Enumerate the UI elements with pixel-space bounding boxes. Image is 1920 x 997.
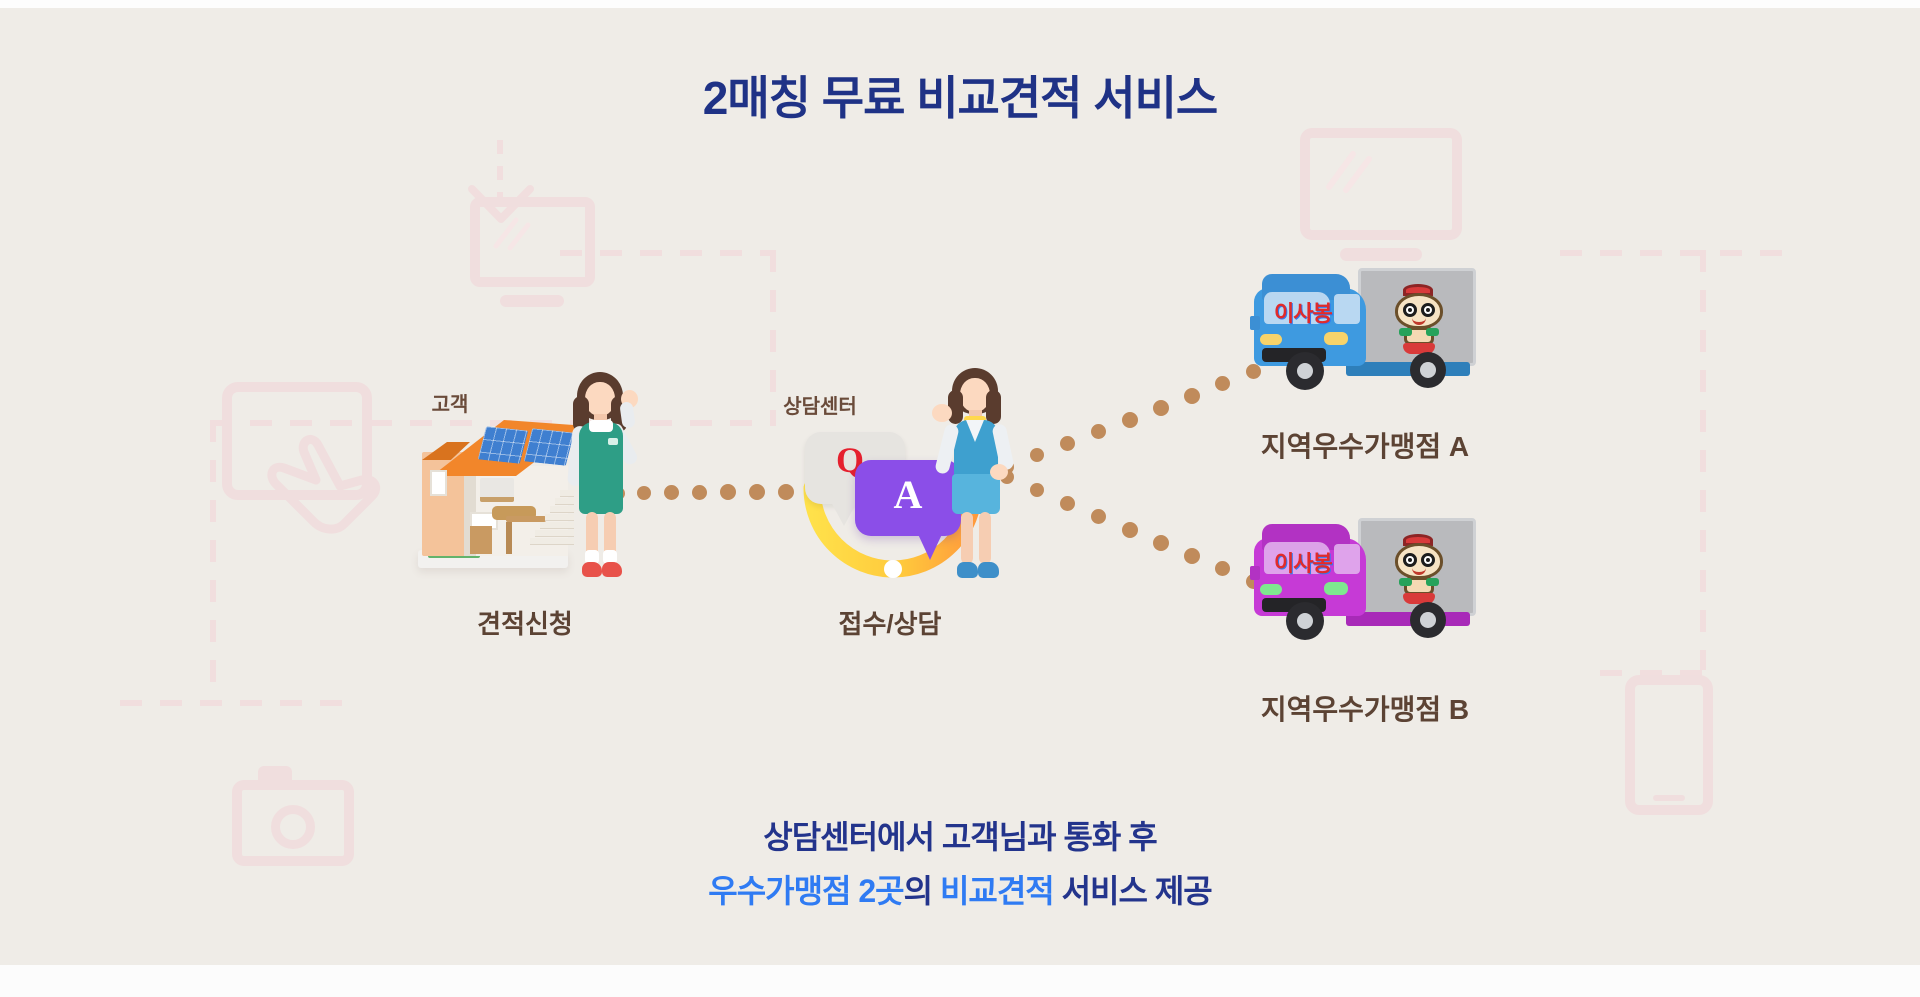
- footer-highlight-partners: 우수가맹점 2곳: [708, 873, 903, 909]
- down-arrow-icon: [497, 140, 503, 200]
- call-center-step-label: 접수/상담: [770, 604, 1010, 641]
- call-center-top-label: 상담센터: [750, 390, 890, 419]
- answer-bubble-letter: A: [886, 470, 930, 518]
- customer-step-label: 견적신청: [400, 604, 650, 641]
- dashed-path: [120, 700, 350, 706]
- tv-monitor-outline: [470, 197, 595, 287]
- tv-monitor-outline: [1300, 128, 1462, 240]
- footer-highlight-quote: 비교견적: [940, 873, 1054, 909]
- tv-monitor-stand: [500, 295, 564, 307]
- page-title: 2매칭 무료 비교견적 서비스: [0, 62, 1920, 128]
- customer-avatar: [555, 372, 645, 588]
- tv-monitor-glare-icon: [1322, 145, 1378, 197]
- mascot-icon: [1390, 284, 1448, 356]
- smartphone-outline: [1625, 675, 1713, 815]
- call-center-agent-avatar: [928, 368, 1024, 594]
- truck-logo-blue: 이사봉: [1274, 296, 1338, 328]
- hand-pointer-icon: [258, 424, 388, 534]
- moving-truck-purple: 이사봉: [1250, 508, 1480, 648]
- tv-monitor-glare-icon: [490, 212, 535, 254]
- infographic-canvas: 2매칭 무료 비교견적 서비스: [0, 0, 1920, 997]
- bottom-letterbox: [0, 965, 1920, 997]
- dashed-path: [560, 250, 776, 256]
- footer-text-tail: 서비스 제공: [1054, 873, 1212, 909]
- truck-logo-purple: 이사봉: [1274, 546, 1338, 578]
- footer-line-1: 상담센터에서 고객님과 통화 후: [0, 812, 1920, 858]
- camera-flash-icon: [258, 766, 292, 782]
- dashed-path: [1600, 670, 1704, 676]
- dashed-path: [1700, 250, 1706, 670]
- moving-truck-blue: 이사봉: [1250, 258, 1480, 398]
- footer-text-particle: 의: [904, 873, 940, 909]
- mascot-icon: [1390, 534, 1448, 606]
- top-letterbox: [0, 0, 1920, 8]
- smartphone-home-icon: [1653, 795, 1685, 801]
- partner-a-label: 지역우수가맹점 A: [1205, 425, 1525, 465]
- footer-line-2: 우수가맹점 2곳의 비교견적 서비스 제공: [0, 866, 1920, 912]
- tablet-outline: [222, 382, 372, 500]
- question-bubble-tail: [830, 500, 858, 526]
- down-arrow-icon: [468, 185, 534, 229]
- partner-b-label: 지역우수가맹점 B: [1205, 688, 1525, 728]
- dashed-path: [1560, 250, 1800, 256]
- dashed-path: [210, 420, 216, 700]
